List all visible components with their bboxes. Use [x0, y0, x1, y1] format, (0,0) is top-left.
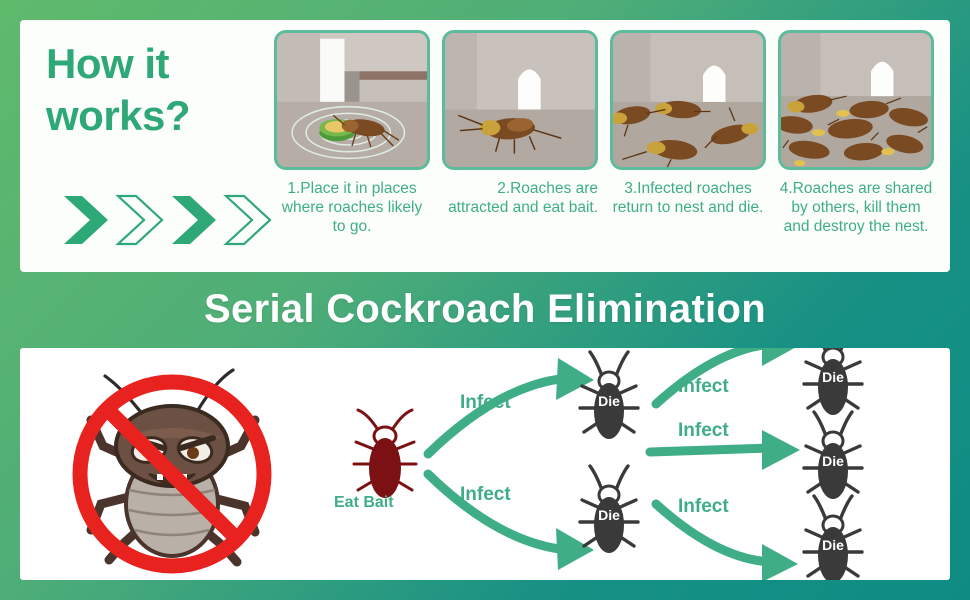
step-3-thumbnail	[610, 30, 766, 170]
dead-roach-s1-top: Die	[580, 352, 638, 439]
no-cockroach-sign	[65, 354, 280, 574]
step-1-thumbnail	[274, 30, 430, 170]
infection-flow-diagram: Die Die	[310, 348, 950, 580]
die-label: Die	[598, 393, 620, 409]
step-2-thumbnail	[442, 30, 598, 170]
die-label: Die	[822, 453, 844, 469]
step-panel-4: 4.Roaches are shared by others, kill the…	[772, 30, 940, 266]
infect-label-5: Infect	[678, 496, 729, 518]
dead-roach-s2-top: Die	[804, 348, 862, 415]
roach-near-nest-hole-photo	[445, 33, 595, 167]
heading-line-2: works?	[46, 90, 276, 142]
chevron-right-icon	[60, 192, 112, 248]
chevron-arrow-group	[60, 192, 274, 248]
die-label: Die	[822, 537, 844, 553]
chevron-right-icon	[168, 192, 220, 248]
page-title: Serial Cockroach Elimination	[204, 287, 766, 332]
red-roach-eat-bait	[354, 410, 416, 498]
step-4-caption: 4.Roaches are shared by others, kill the…	[778, 179, 934, 236]
step-panel-3: 3.Infected roaches return to nest and di…	[604, 30, 772, 266]
dead-roach-s1-bottom: Die	[580, 466, 638, 553]
how-it-works-card: How it works?	[20, 20, 950, 272]
infect-arrow-2	[428, 474, 594, 570]
step-3-caption: 3.Infected roaches return to nest and di…	[610, 179, 766, 217]
infect-label-1: Infect	[460, 392, 511, 414]
infect-label-3: Infect	[678, 376, 729, 398]
step-4-thumbnail	[778, 30, 934, 170]
die-label: Die	[822, 369, 844, 385]
infect-arrow-1	[428, 358, 594, 454]
many-dead-roaches-with-bait-photo	[781, 33, 931, 167]
infection-flow-svg: Die Die	[310, 348, 950, 580]
chevron-right-icon	[222, 192, 274, 248]
die-label: Die	[598, 507, 620, 523]
how-it-works-heading: How it works?	[46, 38, 276, 142]
step-panel-list: 1.Place it in places where roaches likel…	[268, 30, 940, 266]
dead-roach-s2-bottom: Die	[804, 496, 862, 580]
step-panel-2: 2.Roaches are attracted and eat bait.	[436, 30, 604, 266]
infect-label-2: Infect	[460, 484, 511, 506]
heading-line-1: How it	[46, 38, 276, 90]
step-panel-1: 1.Place it in places where roaches likel…	[268, 30, 436, 266]
chevron-right-icon	[114, 192, 166, 248]
bait-station-with-roach-photo	[277, 33, 427, 167]
main-title-banner: Serial Cockroach Elimination	[0, 278, 970, 340]
elimination-diagram-card: Die Die	[20, 348, 950, 580]
step-2-caption: 2.Roaches are attracted and eat bait.	[442, 179, 598, 217]
roaches-returning-to-nest-photo	[613, 33, 763, 167]
step-1-caption: 1.Place it in places where roaches likel…	[274, 179, 430, 236]
no-cockroach-sign-icon	[65, 354, 280, 574]
dead-roach-s2-mid: Die	[804, 412, 862, 499]
infect-label-4: Infect	[678, 420, 729, 442]
eat-bait-label: Eat Bait	[334, 494, 394, 512]
